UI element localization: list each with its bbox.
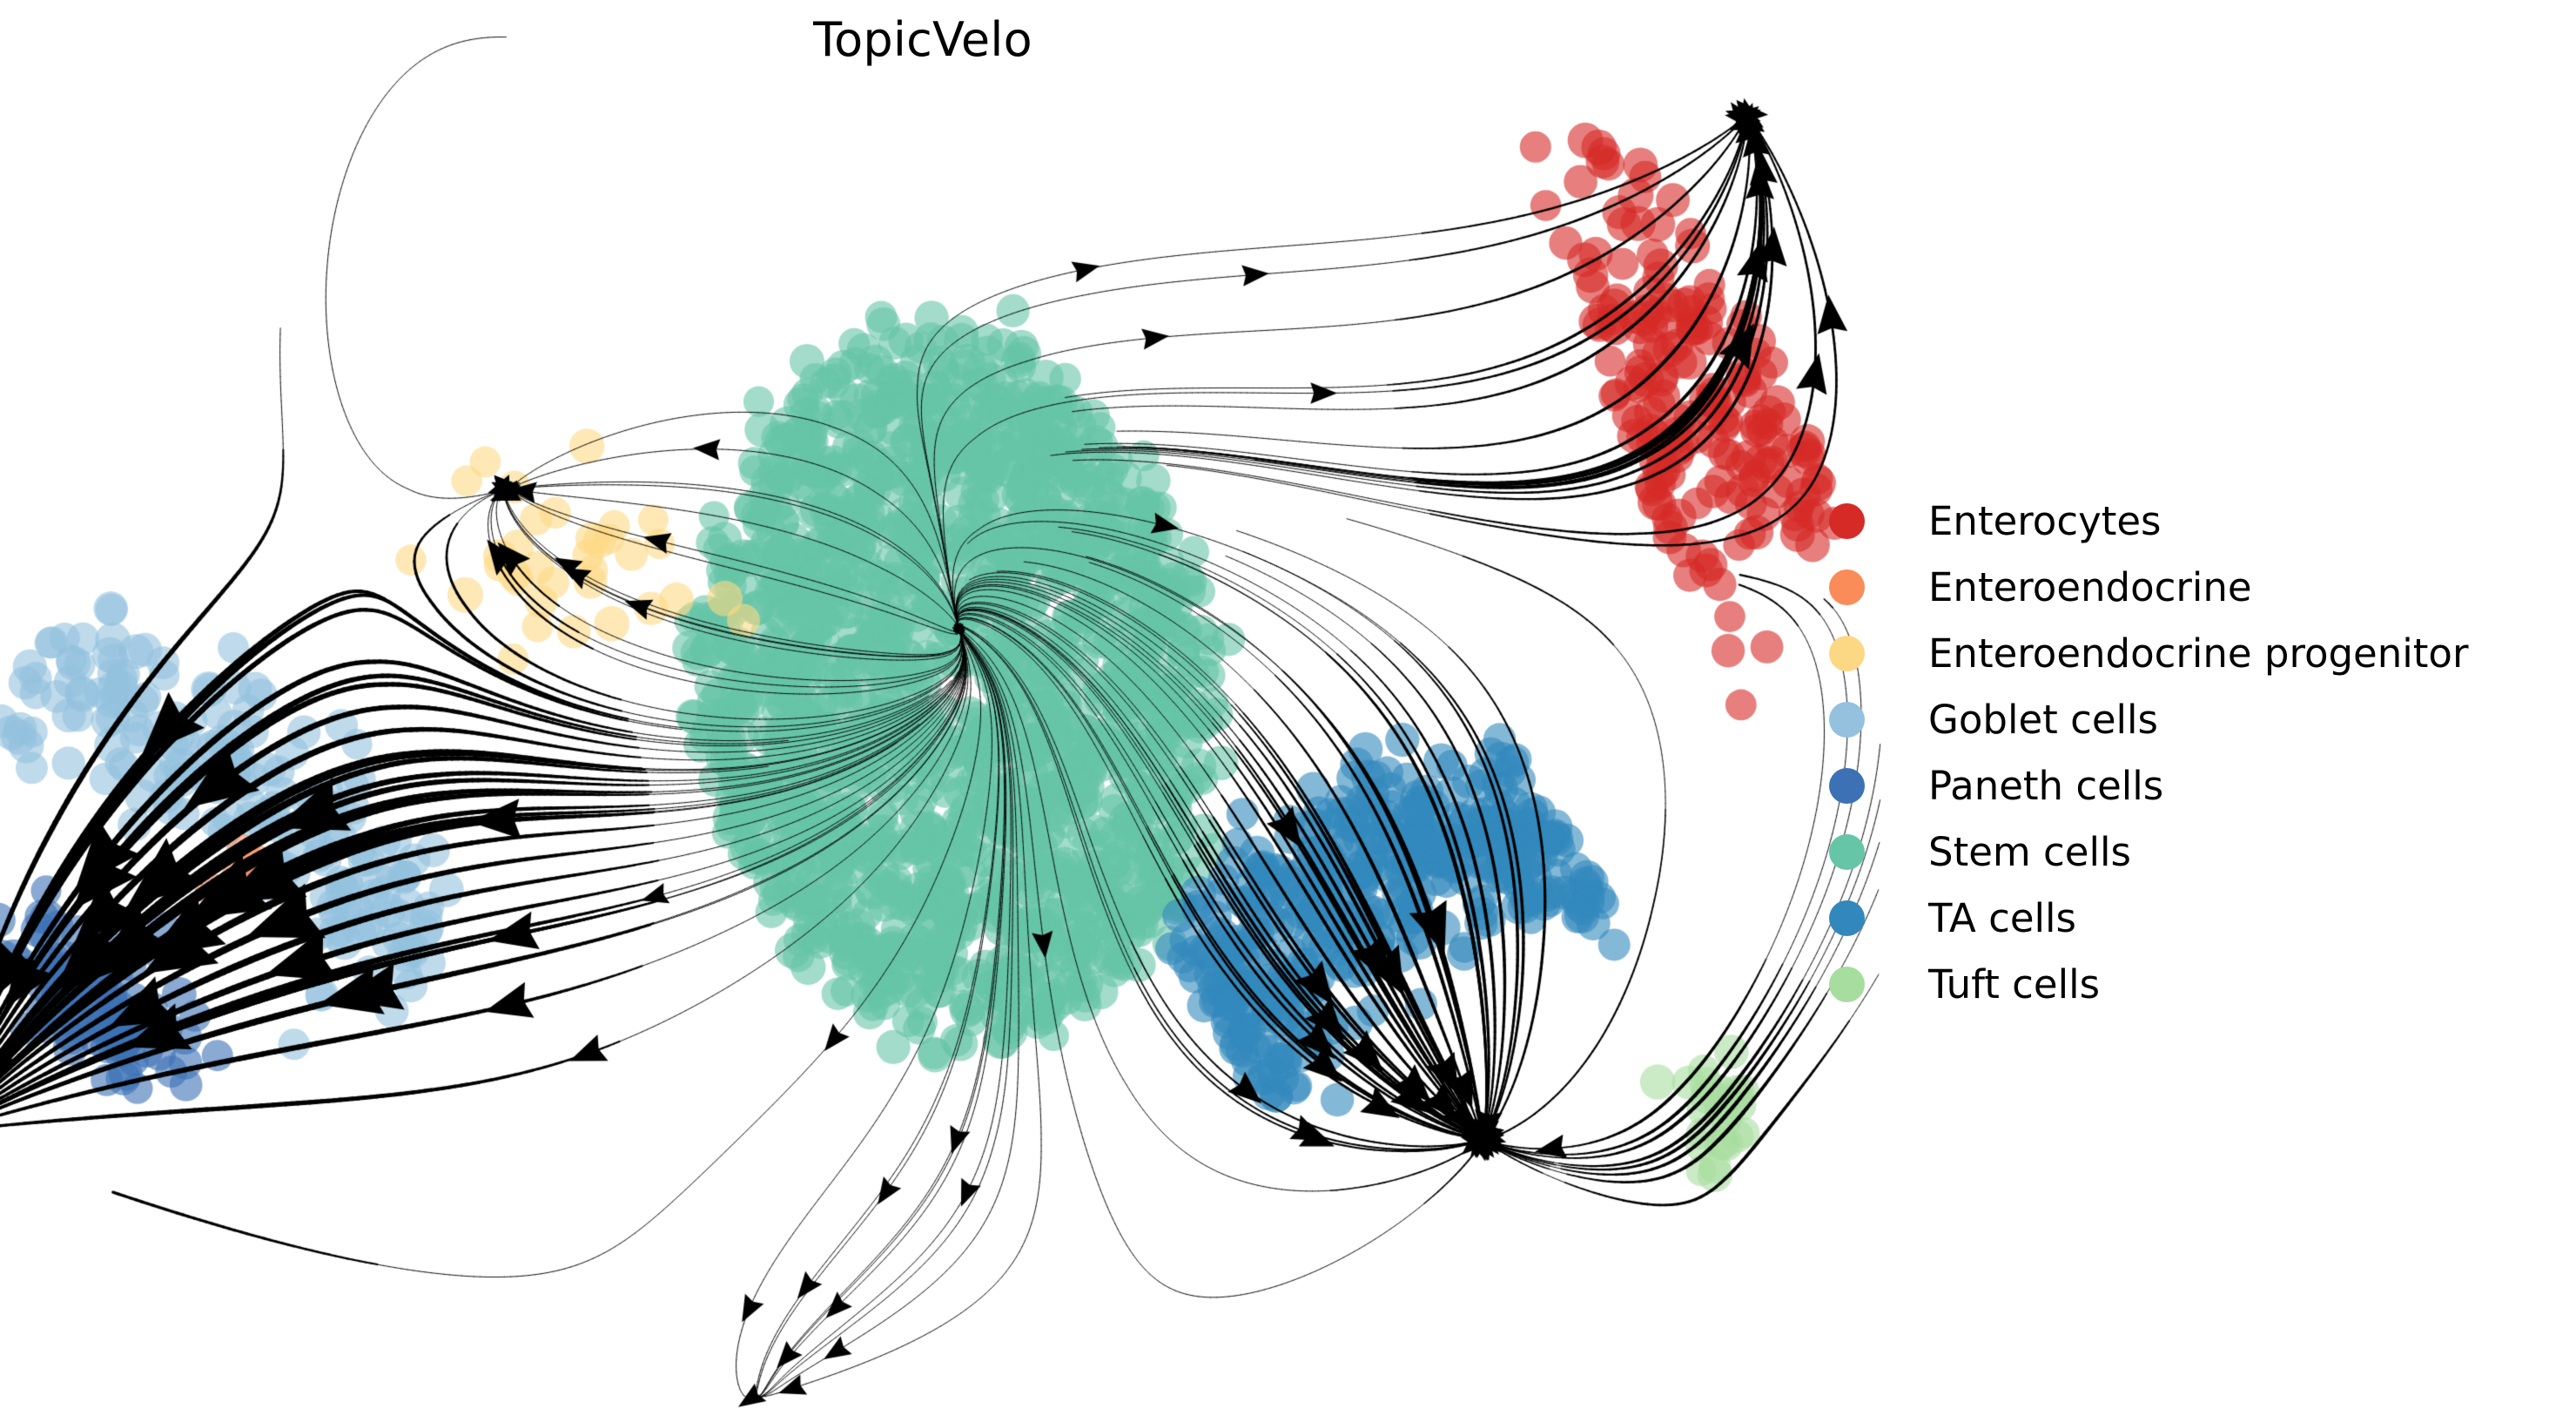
legend-dot-icon (1829, 503, 1865, 539)
legend-dot-icon (1829, 702, 1865, 738)
legend-item[interactable]: Paneth cells (1824, 752, 2529, 819)
legend-item-label: Enteroendocrine progenitor (1928, 634, 2468, 673)
legend-dot-icon (1829, 569, 1865, 605)
legend: Enterocytes Enteroendocrine Enteroendocr… (1824, 488, 2529, 1017)
legend-item[interactable]: Goblet cells (1824, 686, 2529, 752)
legend-item[interactable]: Enteroendocrine progenitor (1824, 620, 2529, 686)
legend-item-label: Paneth cells (1928, 766, 2163, 805)
legend-item[interactable]: Enterocytes (1824, 488, 2529, 554)
legend-item[interactable]: Enteroendocrine (1824, 554, 2529, 620)
legend-item[interactable]: TA cells (1824, 885, 2529, 951)
legend-item-label: Tuft cells (1928, 965, 2100, 1004)
legend-item[interactable]: Stem cells (1824, 819, 2529, 885)
legend-item-label: Enterocytes (1928, 502, 2161, 541)
legend-item-label: Goblet cells (1928, 700, 2158, 739)
legend-dot-icon (1829, 636, 1865, 671)
legend-item[interactable]: Tuft cells (1824, 951, 2529, 1017)
legend-item-label: Enteroendocrine (1928, 568, 2252, 607)
legend-item-label: TA cells (1928, 899, 2076, 938)
legend-item-label: Stem cells (1928, 832, 2131, 872)
legend-dot-icon (1829, 967, 1865, 1002)
legend-dot-icon (1829, 900, 1865, 936)
legend-dot-icon (1829, 834, 1865, 870)
legend-dot-icon (1829, 768, 1865, 804)
velocity-stream-figure: TopicVelo Enterocytes Enteroendocrine En… (0, 0, 2576, 1422)
